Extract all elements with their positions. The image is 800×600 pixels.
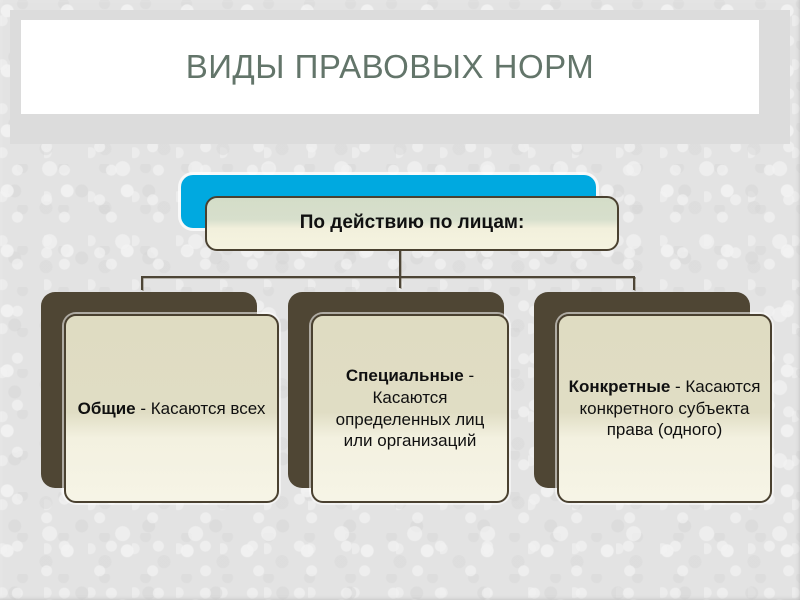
connector-stem [399, 250, 401, 288]
child-1-body[interactable]: Общие - Касаются всех [64, 314, 279, 503]
child-2-definition: Касаются определенных лиц или организаци… [336, 388, 485, 451]
child-2-body[interactable]: Специальные - Касаются определенных лиц … [311, 314, 509, 503]
child-2-separator: - [464, 366, 474, 385]
child-2-term: Специальные [346, 366, 464, 385]
child-1-separator: - [136, 399, 151, 418]
title-placeholder[interactable]: Виды правовых норм [21, 20, 759, 114]
child-3-label: Конкретные - Касаются конкретного субъек… [568, 376, 761, 441]
page-title: Виды правовых норм [186, 49, 595, 85]
child-3-body[interactable]: Конкретные - Касаются конкретного субъек… [557, 314, 772, 503]
child-1-definition: Касаются всех [151, 399, 266, 418]
root-node-body[interactable]: По действию по лицам: [205, 196, 619, 251]
root-node-label: По действию по лицам: [300, 212, 525, 235]
child-1-term: Общие [78, 399, 136, 418]
child-3-term: Конкретные [569, 377, 671, 396]
connector-bar [141, 276, 635, 278]
child-2-label: Специальные - Касаются определенных лиц … [322, 365, 498, 452]
slide-canvas: Виды правовых норм По действию по лицам:… [0, 0, 800, 600]
child-3-separator: - [670, 377, 685, 396]
connector-drop-child-3 [633, 276, 635, 290]
child-1-label: Общие - Касаются всех [78, 398, 266, 420]
connector-drop-child-1 [141, 276, 143, 290]
